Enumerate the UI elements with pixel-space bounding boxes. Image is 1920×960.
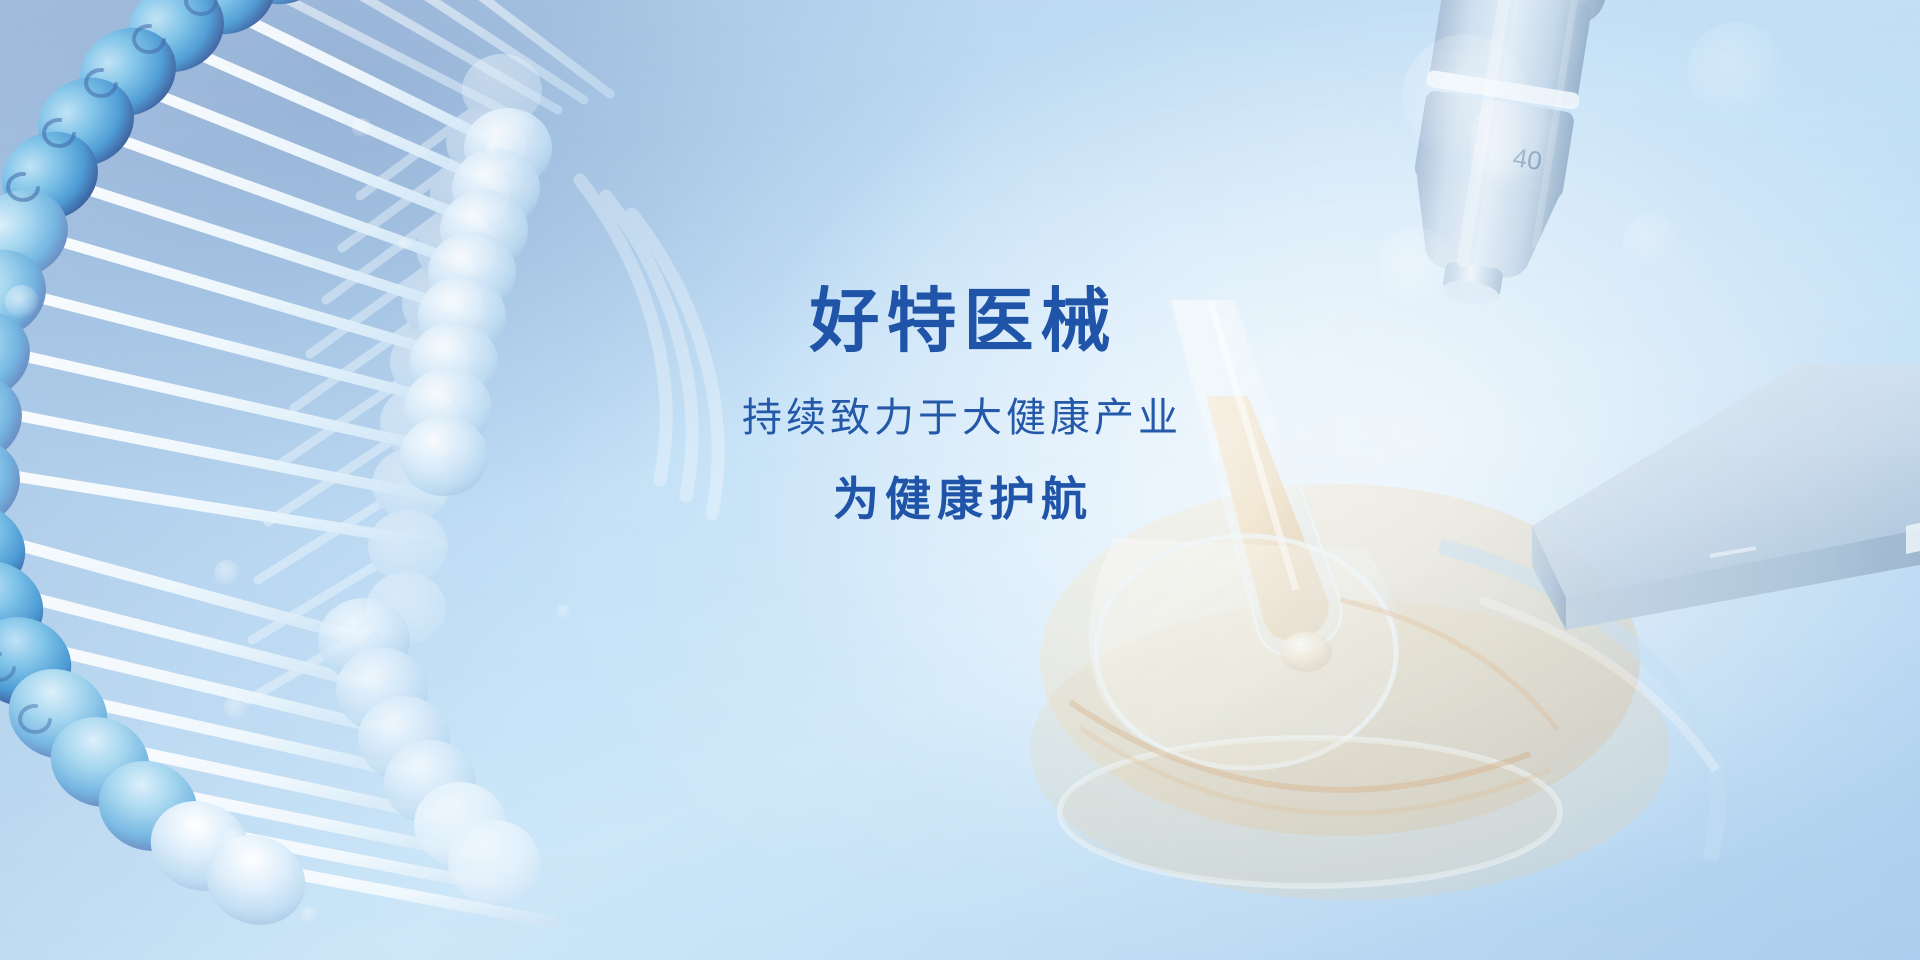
hero-banner: 40 — [0, 0, 1920, 960]
page-tagline: 为健康护航 — [0, 474, 1920, 525]
hero-text-block: 好特医械 持续致力于大健康产业 为健康护航 — [0, 284, 1920, 524]
page-subtitle: 持续致力于大健康产业 — [0, 396, 1920, 440]
page-title: 好特医械 — [0, 284, 1920, 360]
